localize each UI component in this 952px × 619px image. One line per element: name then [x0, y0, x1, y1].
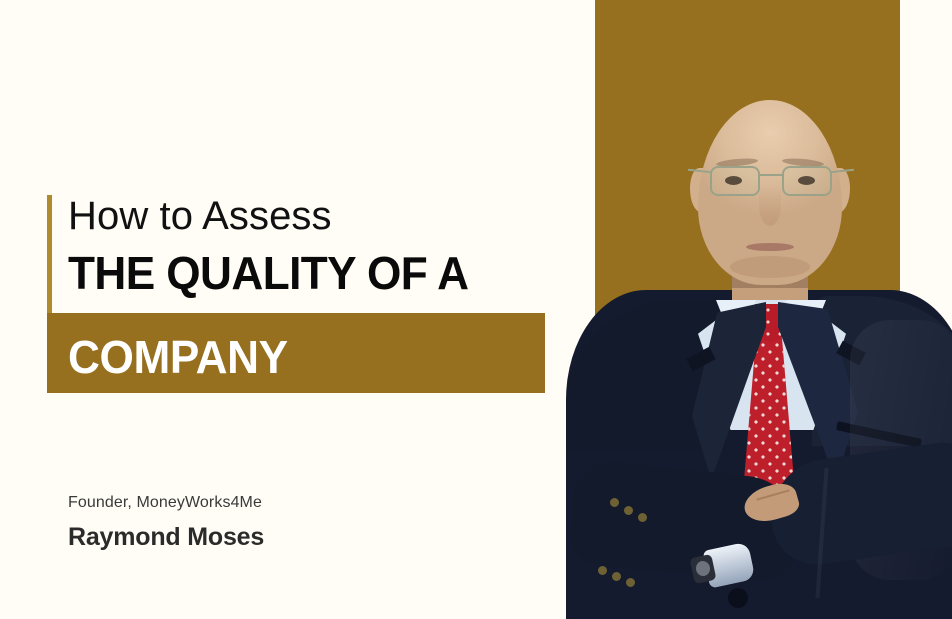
headline-line-2: THE QUALITY OF A [68, 247, 469, 299]
eyeglasses-lens-right [782, 166, 832, 196]
poster-canvas: How to Assess THE QUALITY OF A COMPANY F… [0, 0, 952, 619]
eyeglasses-bridge [760, 174, 782, 176]
mouth [746, 243, 794, 251]
eyeglasses-lens-left [710, 166, 760, 196]
headline-line-1: How to Assess [68, 193, 332, 239]
sleeve-button [638, 513, 647, 522]
sleeve-button [612, 572, 621, 581]
sleeve-button [626, 578, 635, 587]
sleeve-button [624, 506, 633, 515]
chin-shadow [730, 256, 810, 278]
sleeve-button [598, 566, 607, 575]
sleeve-button [610, 498, 619, 507]
portrait-photo [520, 0, 952, 619]
headline-line-3: COMPANY [68, 331, 288, 383]
byline-role: Founder, MoneyWorks4Me [68, 492, 264, 514]
byline-name: Raymond Moses [68, 522, 264, 552]
title-accent-rule [47, 195, 52, 315]
jacket-button [728, 588, 748, 608]
nose [759, 186, 781, 226]
byline: Founder, MoneyWorks4Me Raymond Moses [68, 492, 264, 552]
